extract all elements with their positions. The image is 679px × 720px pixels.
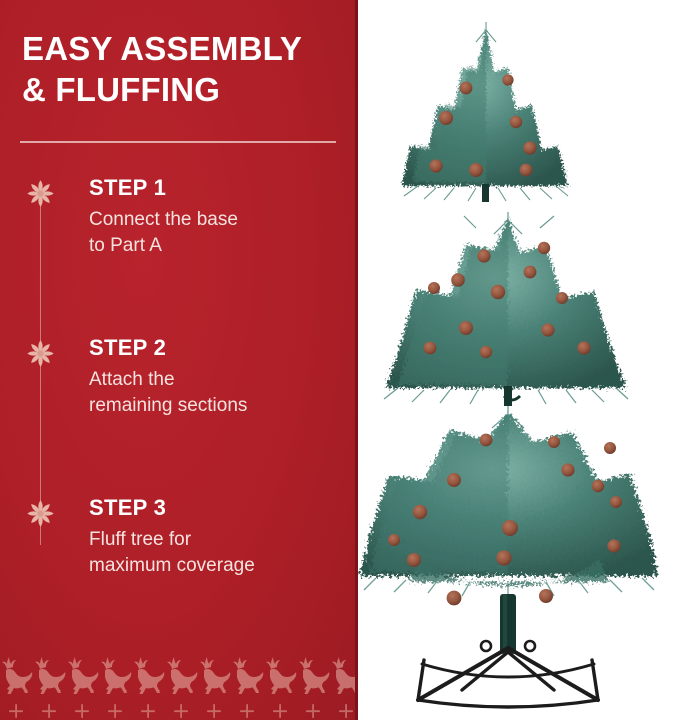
tree-pole [500, 594, 516, 654]
step-2-description: Attach the remaining sections [89, 367, 339, 419]
cross-star-icon [330, 703, 358, 719]
left-red-panel: EASY ASSEMBLY & FLUFFING [0, 0, 358, 720]
page-title: EASY ASSEMBLY & FLUFFING [22, 28, 342, 110]
reindeer-icon [99, 656, 132, 694]
bottom-tree-section [360, 406, 658, 707]
tree-stand [418, 641, 598, 707]
reindeer-icon [330, 656, 358, 694]
snowflake-icon [24, 497, 57, 530]
cross-star-icon [165, 703, 198, 719]
right-product-panel [358, 0, 679, 720]
step-item-2: STEP 2 Attach the remaining sections [0, 335, 358, 495]
step-1-body: STEP 1 Connect the base to Part A [89, 175, 339, 259]
step-3-description: Fluff tree for maximum coverage [89, 527, 339, 579]
cross-star-icon [231, 703, 264, 719]
reindeer-icon [231, 656, 264, 694]
cross-star-icon [33, 703, 66, 719]
steps-list: STEP 1 Connect the base to Part A [0, 175, 358, 495]
snowflake-icon [24, 337, 57, 370]
reindeer-icon [198, 656, 231, 694]
cross-star-icon [297, 703, 330, 719]
tree-stage [358, 0, 679, 720]
reindeer-icon [165, 656, 198, 694]
cross-star-icon [198, 703, 231, 719]
reindeer-icon [0, 656, 33, 694]
step-1-description: Connect the base to Part A [89, 207, 339, 259]
top-tree-section [402, 22, 568, 202]
title-divider [20, 141, 336, 143]
decorative-border [0, 640, 358, 720]
reindeer-icon [132, 656, 165, 694]
cross-star-row [0, 702, 358, 720]
step-3-body: STEP 3 Fluff tree for maximum coverage [89, 495, 339, 579]
middle-tree-section [384, 212, 628, 406]
reindeer-row [0, 654, 358, 694]
step-2-body: STEP 2 Attach the remaining sections [89, 335, 339, 419]
snowflake-icon [24, 177, 57, 210]
cross-star-icon [132, 703, 165, 719]
step-item-1: STEP 1 Connect the base to Part A [0, 175, 358, 335]
assembly-infographic: EASY ASSEMBLY & FLUFFING [0, 0, 679, 720]
reindeer-icon [264, 656, 297, 694]
cross-star-icon [0, 703, 33, 719]
step-3-title: STEP 3 [89, 495, 339, 521]
step-2-title: STEP 2 [89, 335, 339, 361]
reindeer-icon [33, 656, 66, 694]
cross-star-icon [99, 703, 132, 719]
step-1-title: STEP 1 [89, 175, 339, 201]
reindeer-icon [66, 656, 99, 694]
christmas-tree-illustration [358, 0, 679, 720]
cross-star-icon [66, 703, 99, 719]
cross-star-icon [264, 703, 297, 719]
reindeer-icon [297, 656, 330, 694]
